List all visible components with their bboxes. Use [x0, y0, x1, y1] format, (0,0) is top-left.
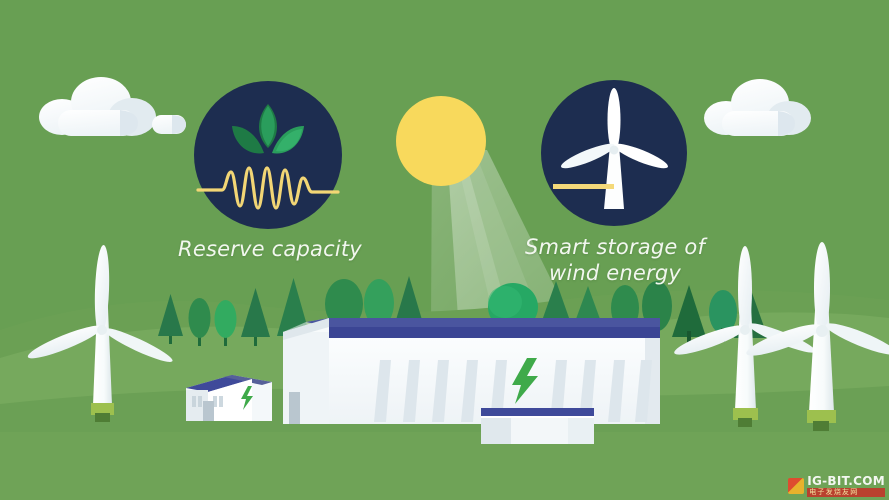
label-reserve-capacity: Reserve capacity	[170, 236, 370, 262]
icon-circle-reserve-capacity[interactable]	[194, 81, 342, 229]
watermark-title: IG-BIT.COM	[807, 475, 885, 487]
gold-bar-icon	[553, 184, 614, 189]
illustration-canvas: Reserve capacity Smart storage of wind e…	[0, 0, 889, 500]
cloud-left-small	[152, 115, 186, 134]
watermark: IG-BIT.COM 电子发烧友网	[788, 475, 885, 497]
scene-illustration	[0, 0, 889, 500]
watermark-text: IG-BIT.COM 电子发烧友网	[807, 475, 885, 497]
icon-circle-smart-storage[interactable]	[541, 80, 687, 226]
sun-icon	[396, 96, 486, 186]
warehouse	[283, 318, 660, 424]
watermark-subtitle: 电子发烧友网	[807, 488, 885, 497]
label-smart-storage: Smart storage of wind energy	[515, 234, 715, 286]
annex-building	[481, 408, 594, 444]
watermark-logo-icon	[788, 478, 804, 494]
